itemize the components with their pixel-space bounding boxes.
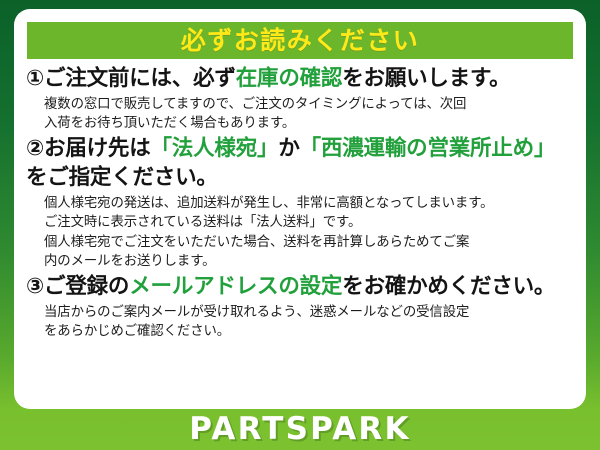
notice-item-3-heading: ③ご登録のメールアドレスの設定をお確かめください。 [26,273,576,302]
notice-item-2-heading-highlight: 「法人様宛」 [151,136,279,161]
notice-item-1-heading-post: をお願いします。 [342,66,510,91]
notice-banner-image: 必ずお読みください ①ご注文前には、必ず在庫の確認をお願いします。 複数の窓口で… [0,0,600,450]
notice-item-1-body-line-2: 入荷をお待ち頂いただく場合もあります。 [44,114,576,133]
notice-item-2-heading-mid: か [278,136,299,161]
notice-item-2-body-line-4: 内のメールをお送りします。 [44,252,576,271]
notice-item-3-heading-highlight: メールアドレスの設定 [129,274,342,299]
notice-item-3-body-line-2: をあらかじめご確認ください。 [44,322,576,341]
notice-item-1: ①ご注文前には、必ず在庫の確認をお願いします。 複数の窓口で販売してますので、ご… [26,65,576,133]
notice-item-2-body-line-2: ご注文時に表示されている送料は「法人送料」です。 [44,213,576,232]
notice-item-2-body: 個人様宅宛の発送は、追加送料が発生し、非常に高額となってしまいます。 ご注文時に… [26,194,576,272]
notice-items-list: ①ご注文前には、必ず在庫の確認をお願いします。 複数の窓口で販売してますので、ご… [14,65,586,344]
notice-item-1-heading-pre: ご注文前には、必ず [44,66,236,91]
notice-item-1-body-line-1: 複数の窓口で販売してますので、ご注文のタイミングによっては、次回 [44,95,576,114]
notice-item-3-heading-post: をお確かめください。 [342,274,555,299]
notice-item-2-heading: ②お届け先は「法人様宛」か「西濃運輸の営業所止め」をご指定ください。 [26,135,576,192]
white-content-panel: 必ずお読みください ①ご注文前には、必ず在庫の確認をお願いします。 複数の窓口で… [14,9,586,409]
notice-item-2-heading-pre: お届け先は [44,136,151,161]
notice-item-1-heading: ①ご注文前には、必ず在庫の確認をお願いします。 [26,65,576,94]
notice-item-1-heading-highlight: 在庫の確認 [236,66,343,91]
notice-item-2: ②お届け先は「法人様宛」か「西濃運輸の営業所止め」をご指定ください。 個人様宅宛… [26,135,576,271]
header-banner: 必ずお読みください [27,22,573,59]
notice-item-2-body-line-3: 個人様宅宛でご注文をいただいた場合、送料を再計算しあらためてご案 [44,233,576,252]
notice-item-1-body: 複数の窓口で販売してますので、ご注文のタイミングによっては、次回 入荷をお待ち頂… [26,95,576,134]
notice-item-2-heading-highlight-2: 「西濃運輸の営業所止め」 [300,136,556,161]
notice-item-3-body: 当店からのご案内メールが受け取れるよう、迷惑メールなどの受信設定 をあらかじめご… [26,303,576,342]
notice-item-3: ③ご登録のメールアドレスの設定をお確かめください。 当店からのご案内メールが受け… [26,273,576,341]
footer-logo-band: PARTSPARK [0,409,600,450]
notice-item-3-heading-pre: ご登録の [44,274,129,299]
notice-item-3-body-line-1: 当店からのご案内メールが受け取れるよう、迷惑メールなどの受信設定 [44,303,576,322]
partspark-logo: PARTSPARK [189,414,410,445]
notice-item-2-marker: ② [26,136,44,161]
notice-item-1-marker: ① [26,66,44,91]
header-title: 必ずお読みください [181,28,420,53]
notice-item-2-body-line-1: 個人様宅宛の発送は、追加送料が発生し、非常に高額となってしまいます。 [44,194,576,213]
notice-item-2-heading-post: をご指定ください。 [26,165,218,190]
notice-item-3-marker: ③ [26,274,44,299]
